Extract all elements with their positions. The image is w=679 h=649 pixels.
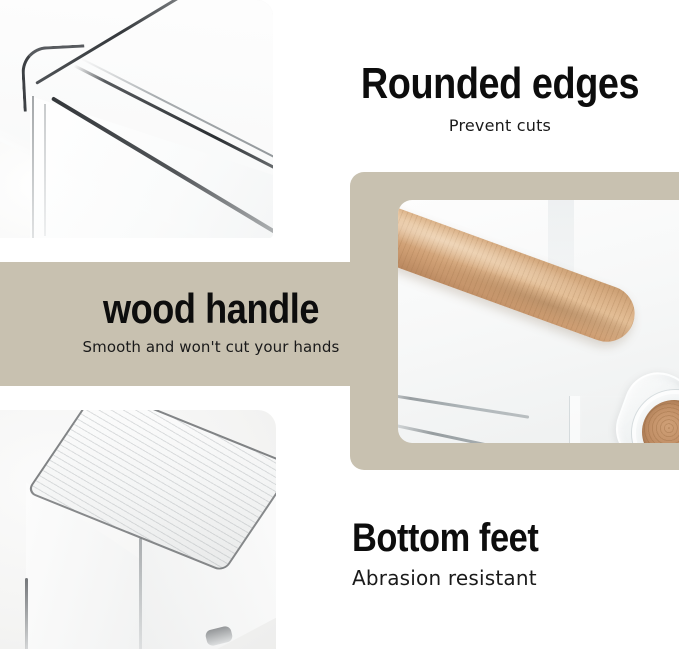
feature-text-wood-handle: wood handle Smooth and won't cut your ha… <box>76 288 346 356</box>
feature-title-rounded-edges: Rounded edges <box>346 62 654 106</box>
feature-text-rounded-edges: Rounded edges Prevent cuts <box>321 62 679 135</box>
wooden-dowel-handle <box>398 200 643 350</box>
feature-subtitle-bottom-feet: Abrasion resistant <box>352 566 652 590</box>
bin-corner-edge-front <box>139 538 142 649</box>
feature-photo-wood-handle <box>398 200 679 443</box>
feature-subtitle-rounded-edges: Prevent cuts <box>321 116 679 135</box>
feature-photo-rounded-edges <box>0 0 273 238</box>
product-feature-infographic: Rounded edges Prevent cuts wood handle S… <box>0 0 679 649</box>
wall-vertical-edge-2 <box>44 104 46 236</box>
feature-subtitle-wood-handle: Smooth and won't cut your hands <box>76 338 346 356</box>
feature-title-bottom-feet: Bottom feet <box>352 518 610 558</box>
wood-grain-shading <box>398 200 643 350</box>
feature-text-bottom-feet: Bottom feet Abrasion resistant <box>352 518 652 590</box>
bin-corner-edge-left <box>25 578 28 649</box>
rack-wire-rail-upper <box>398 392 529 418</box>
wall-vertical-edge-1 <box>32 96 34 238</box>
feature-title-wood-handle: wood handle <box>95 288 327 330</box>
feature-photo-bottom-feet <box>0 410 276 649</box>
